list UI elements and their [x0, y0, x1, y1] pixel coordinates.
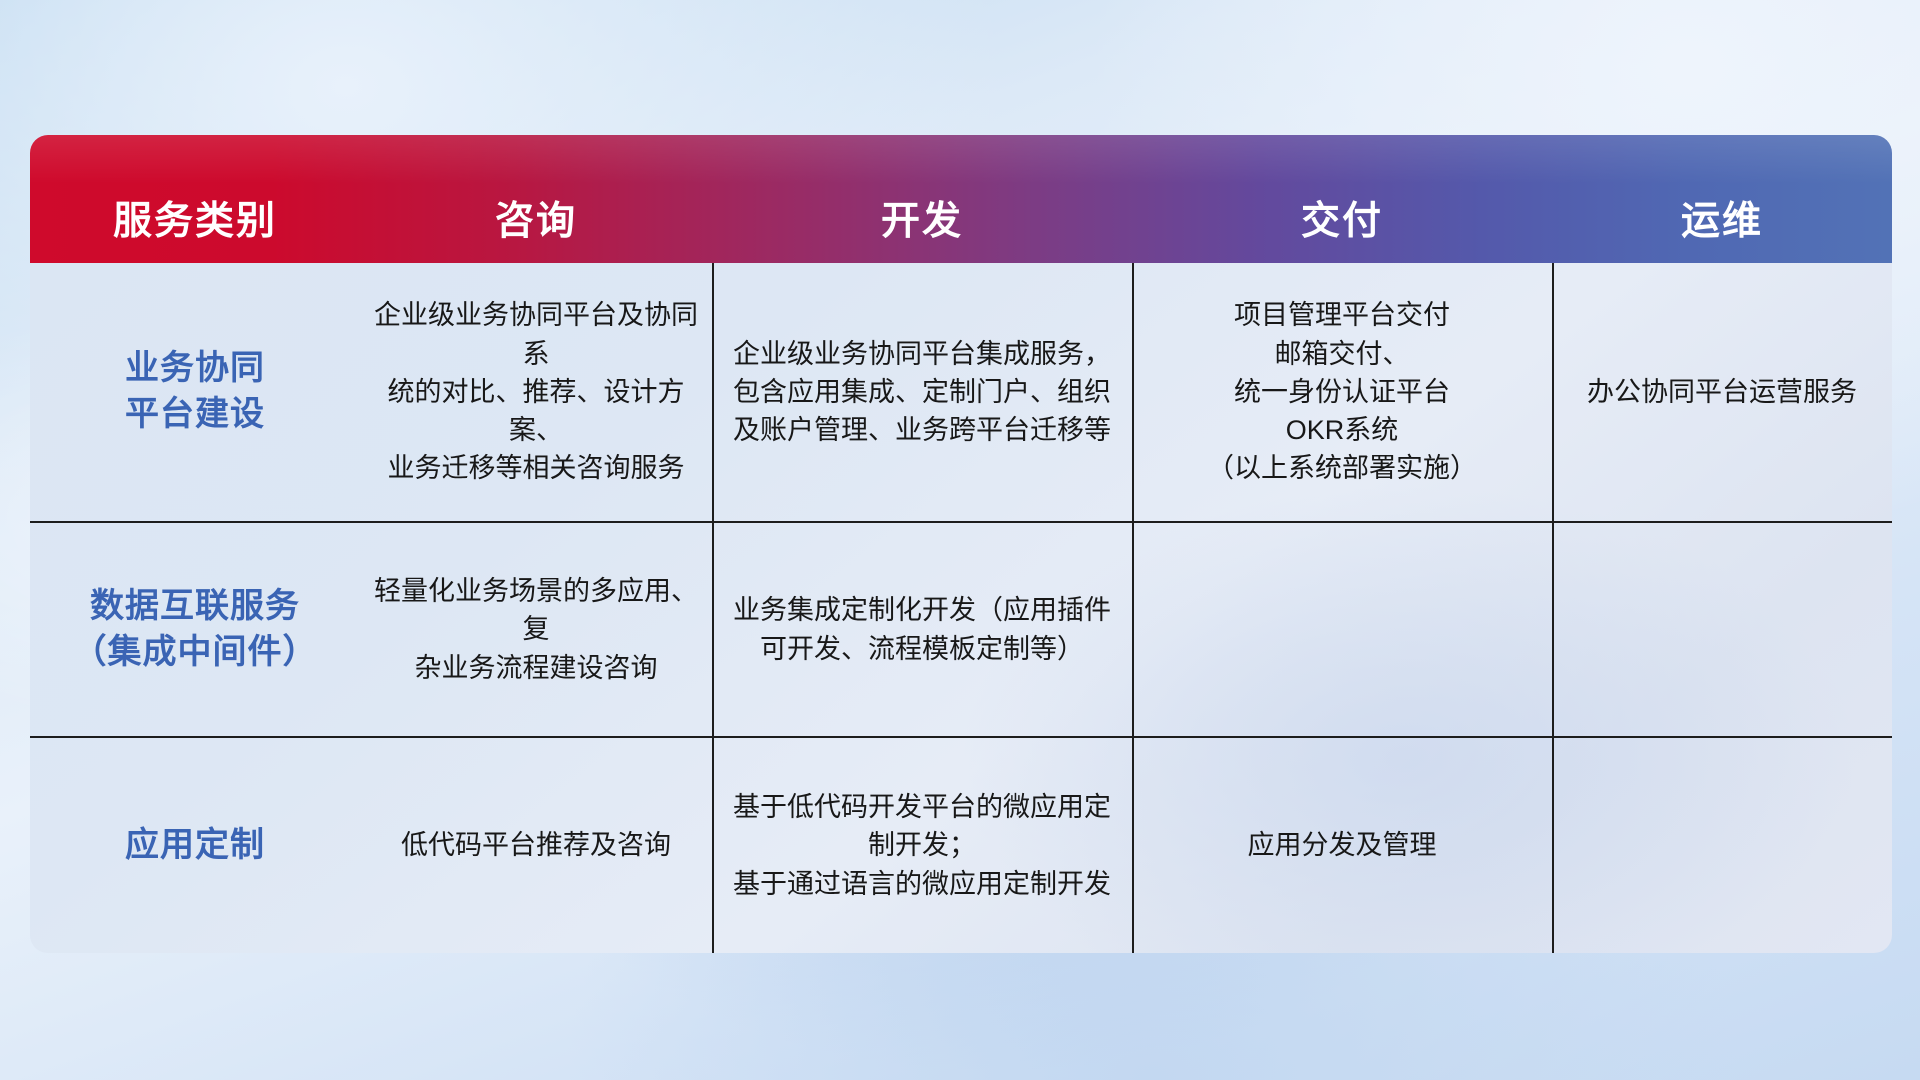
cell-category-3: 应用定制	[30, 738, 360, 953]
cell-operations-3	[1552, 738, 1892, 953]
cell-text: 低代码平台推荐及咨询	[401, 826, 671, 864]
cell-development-3: 基于低代码开发平台的微应用定 制开发； 基于通过语言的微应用定制开发	[712, 738, 1132, 953]
cell-text: 办公协同平台运营服务	[1587, 373, 1857, 411]
cell-development-2: 业务集成定制化开发（应用插件 可开发、流程模板定制等）	[712, 523, 1132, 736]
cell-delivery-1: 项目管理平台交付 邮箱交付、 统一身份认证平台 OKR系统 （以上系统部署实施）	[1132, 263, 1552, 521]
cell-delivery-2	[1132, 523, 1552, 736]
category-label: 业务协同 平台建设	[125, 346, 265, 438]
cell-category-1: 业务协同 平台建设	[30, 263, 360, 521]
cell-text: 业务集成定制化开发（应用插件 可开发、流程模板定制等）	[733, 591, 1111, 668]
cell-text: 基于低代码开发平台的微应用定 制开发； 基于通过语言的微应用定制开发	[733, 788, 1111, 903]
cell-text: 项目管理平台交付 邮箱交付、 统一身份认证平台 OKR系统 （以上系统部署实施）	[1207, 296, 1477, 488]
header-cell-consulting: 咨询	[360, 202, 712, 241]
cell-development-1: 企业级业务协同平台集成服务， 包含应用集成、定制门户、组织 及账户管理、业务跨平…	[712, 263, 1132, 521]
table-row: 数据互联服务 （集成中间件） 轻量化业务场景的多应用、复 杂业务流程建设咨询 业…	[30, 523, 1892, 738]
cell-text: 企业级业务协同平台及协同系 统的对比、推荐、设计方案、 业务迁移等相关咨询服务	[374, 296, 698, 488]
table-body: 业务协同 平台建设 企业级业务协同平台及协同系 统的对比、推荐、设计方案、 业务…	[30, 263, 1892, 953]
cell-consulting-2: 轻量化业务场景的多应用、复 杂业务流程建设咨询	[360, 523, 712, 736]
category-label: 应用定制	[125, 823, 265, 869]
table-header-row: 服务类别 咨询 开发 交付 运维	[30, 135, 1892, 263]
cell-text: 应用分发及管理	[1248, 826, 1437, 864]
service-matrix-table: 服务类别 咨询 开发 交付 运维 业务协同 平台建设 企业级业务协同平台及协同系…	[30, 135, 1892, 953]
category-label: 数据互联服务 （集成中间件）	[73, 584, 318, 676]
cell-category-2: 数据互联服务 （集成中间件）	[30, 523, 360, 736]
cell-text: 轻量化业务场景的多应用、复 杂业务流程建设咨询	[374, 572, 698, 687]
cell-consulting-3: 低代码平台推荐及咨询	[360, 738, 712, 953]
cell-text: 企业级业务协同平台集成服务， 包含应用集成、定制门户、组织 及账户管理、业务跨平…	[733, 335, 1111, 450]
header-cell-delivery: 交付	[1132, 202, 1552, 241]
cell-delivery-3: 应用分发及管理	[1132, 738, 1552, 953]
header-cell-development: 开发	[712, 202, 1132, 241]
cell-consulting-1: 企业级业务协同平台及协同系 统的对比、推荐、设计方案、 业务迁移等相关咨询服务	[360, 263, 712, 521]
table-row: 应用定制 低代码平台推荐及咨询 基于低代码开发平台的微应用定 制开发； 基于通过…	[30, 738, 1892, 953]
header-cell-category: 服务类别	[30, 202, 360, 241]
table-row: 业务协同 平台建设 企业级业务协同平台及协同系 统的对比、推荐、设计方案、 业务…	[30, 263, 1892, 523]
cell-operations-1: 办公协同平台运营服务	[1552, 263, 1892, 521]
cell-operations-2	[1552, 523, 1892, 736]
header-cell-operations: 运维	[1552, 202, 1892, 241]
